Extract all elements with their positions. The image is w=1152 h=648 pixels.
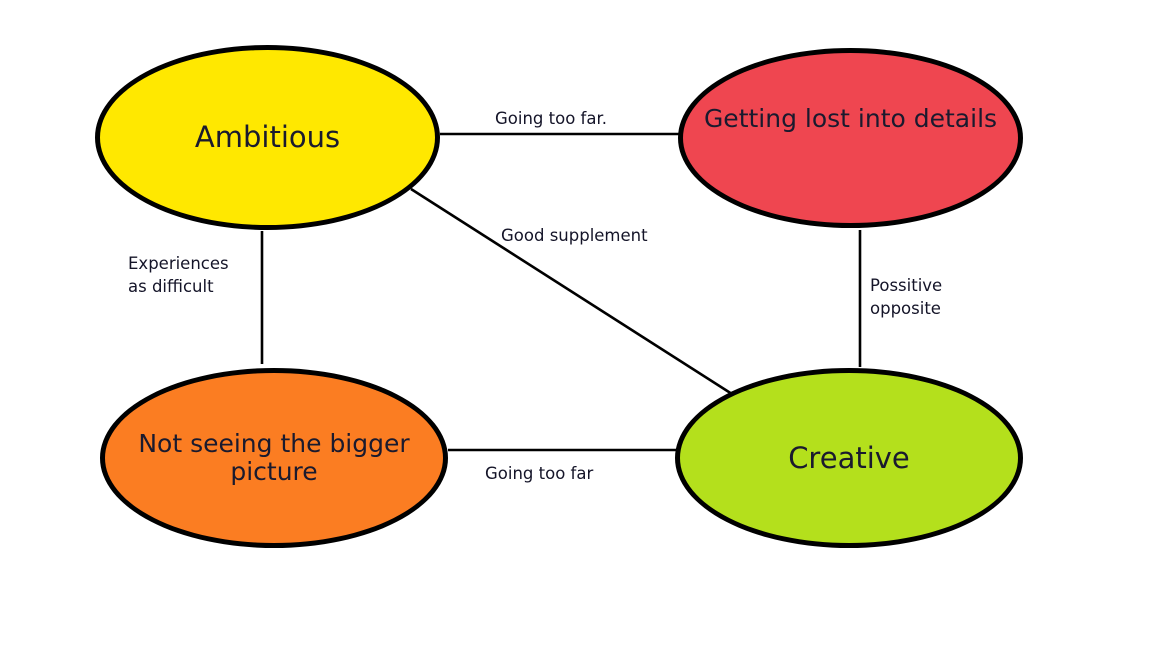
edge-label-ambitious-bigger-picture: Experiences as difficult [128, 252, 229, 299]
node-getting-lost-into-details-label: Getting lost into details [696, 105, 1004, 133]
diagram-canvas: Ambitious Getting lost into details Not … [0, 0, 1152, 648]
edge-label-ambitious-creative: Good supplement [501, 224, 648, 247]
node-not-seeing-the-bigger-picture[interactable]: Not seeing the bigger picture [100, 368, 448, 548]
node-ambitious[interactable]: Ambitious [95, 45, 440, 230]
edge-ambitious-creative [411, 189, 732, 394]
edge-label-bigger-picture-creative: Going too far [485, 462, 593, 485]
node-creative[interactable]: Creative [675, 368, 1023, 548]
node-creative-label: Creative [694, 442, 1005, 474]
node-ambitious-label: Ambitious [113, 121, 421, 153]
edge-label-details-creative: Possitive opposite [870, 274, 942, 321]
node-not-seeing-the-bigger-picture-label: Not seeing the bigger picture [119, 430, 430, 486]
edge-label-ambitious-details: Going too far. [495, 107, 607, 130]
node-getting-lost-into-details[interactable]: Getting lost into details [678, 48, 1023, 228]
